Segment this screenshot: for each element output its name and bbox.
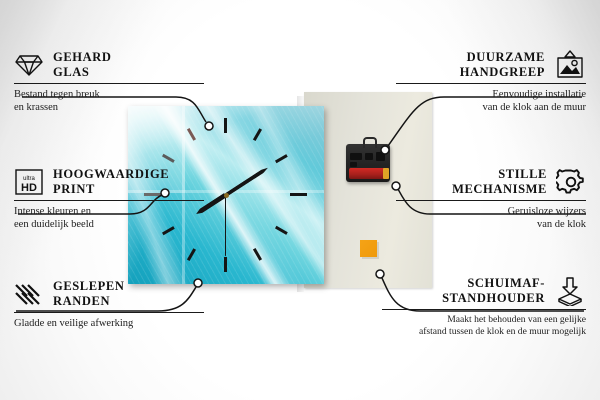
- feature-rule: [14, 312, 204, 313]
- feature-desc-line1: Geruisloze wijzers: [396, 205, 586, 218]
- diagonal-lines-icon: [14, 281, 44, 307]
- picture-frame-icon: [554, 50, 586, 80]
- mechanism-slot-d: [350, 162, 357, 167]
- feature-title-line2: MECHANISME: [452, 182, 547, 197]
- mechanism-slot-c: [376, 152, 385, 161]
- feature-rule: [14, 83, 204, 84]
- feature-rule: [382, 309, 586, 310]
- feature-title-line2: STANDHOUDER: [442, 291, 545, 306]
- feature-title-line1: GESLEPEN: [53, 279, 125, 294]
- feature-rule: [396, 83, 586, 84]
- feature-desc-line1: Intense kleuren en: [14, 205, 204, 218]
- feature-desc-line2: van de klok aan de muur: [396, 101, 586, 114]
- feature-title-line1: STILLE: [452, 167, 547, 182]
- feature-desc-line2: en krassen: [14, 101, 204, 114]
- mechanism-battery: [349, 168, 385, 179]
- feature-desc-line1: Bestand tegen breuk: [14, 88, 204, 101]
- feature-desc-line1: Gladde en veilige afwerking: [14, 317, 204, 330]
- clock-center-hub: [224, 193, 229, 198]
- feature-title-line1: GEHARD: [53, 50, 111, 65]
- feature-title-line2: GLAS: [53, 65, 111, 80]
- clock-tick-6: [224, 257, 227, 272]
- clock-tick-3: [290, 193, 307, 196]
- mechanism-hanger-shaft: [363, 137, 377, 148]
- feature-desc-line2: van de klok: [396, 218, 586, 231]
- mechanism-slot-a: [350, 153, 362, 160]
- feature-desc-line1: Maakt het behouden van een gelijke: [382, 314, 586, 326]
- feature-rule: [14, 200, 204, 201]
- feature-title-line1: DUURZAME: [460, 50, 545, 65]
- diamond-icon: [14, 52, 44, 78]
- feature-desc-line1: Eenvoudige installatie: [396, 88, 586, 101]
- gear-icon: [556, 168, 586, 196]
- clock-mechanism-module: [346, 144, 390, 182]
- feature-hoogwaardige-print: ultra HD HOOGWAARDIGE PRINT Intense kleu…: [14, 167, 204, 231]
- battery-positive-terminal: [383, 168, 389, 179]
- feature-title-line1: SCHUIMAF-: [442, 276, 545, 291]
- feature-title-line2: RANDEN: [53, 294, 125, 309]
- ultra-hd-icon: ultra HD: [14, 168, 44, 196]
- feature-gehard-glas: GEHARD GLAS Bestand tegen breuk en krass…: [14, 50, 204, 114]
- feature-desc-line2: afstand tussen de klok en de muur mogeli…: [382, 326, 586, 338]
- ultra-hd-icon-big-label: HD: [21, 182, 37, 194]
- clock-tick-12: [224, 118, 227, 133]
- feature-title-line1: HOOGWAARDIGE: [53, 167, 169, 182]
- mechanism-slot-b: [365, 153, 373, 160]
- feature-stille-mechanisme: STILLE MECHANISME Geruisloze wijzers van…: [396, 167, 586, 231]
- feature-desc-line2: een duidelijk beeld: [14, 218, 204, 231]
- feature-schuimaf-standhouder: SCHUIMAF- STANDHOUDER Maakt het behouden…: [382, 276, 586, 339]
- down-arrow-pad-icon: [554, 276, 586, 306]
- feature-geslepen-randen: GESLEPEN RANDEN Gladde en veilige afwerk…: [14, 279, 204, 330]
- foam-spacer-pad: [360, 240, 377, 257]
- feature-title-line2: PRINT: [53, 182, 169, 197]
- feature-rule: [396, 200, 586, 201]
- product-infographic: GEHARD GLAS Bestand tegen breuk en krass…: [0, 0, 600, 400]
- feature-title-line2: HANDGREEP: [460, 65, 545, 80]
- feature-duurzame-handgreep: DUURZAME HANDGREEP Eenvoudige installati…: [396, 50, 586, 115]
- clock-second-hand: [225, 194, 227, 256]
